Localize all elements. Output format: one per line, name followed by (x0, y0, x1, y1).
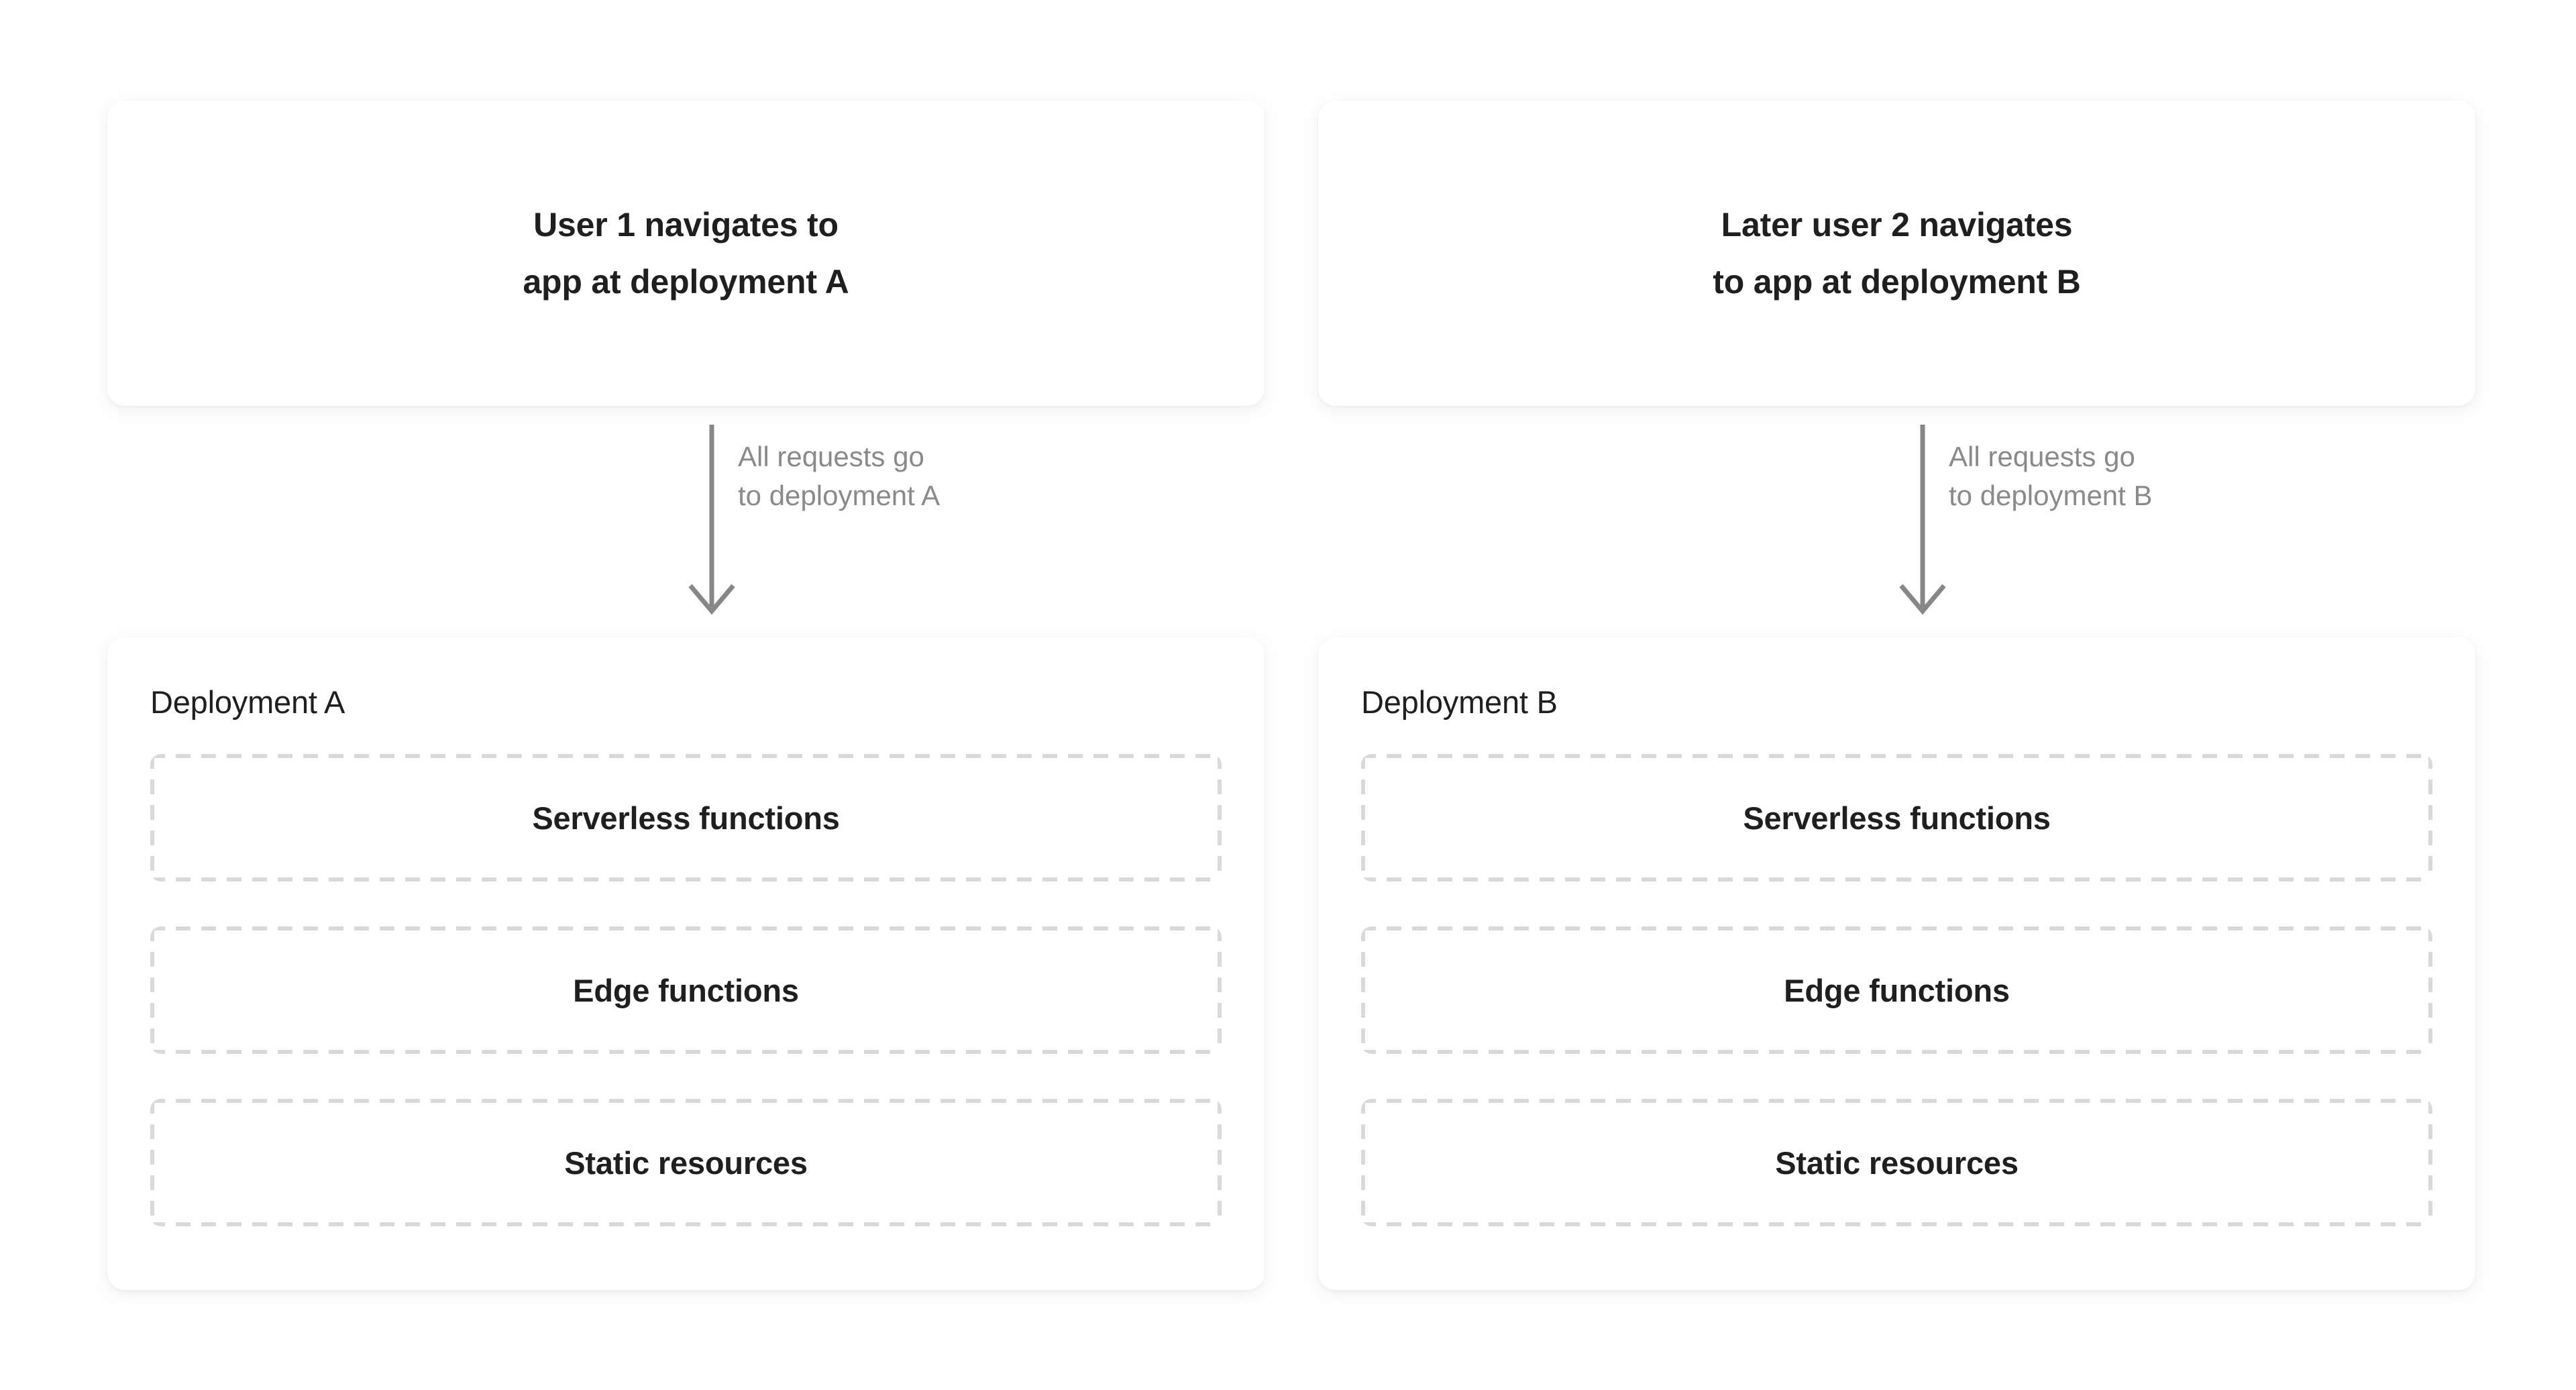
resource-label: Serverless functions (532, 800, 839, 837)
resource-list-b: Serverless functions Edge functions Stat… (1361, 754, 2432, 1226)
resource-label: Static resources (564, 1144, 808, 1181)
user-card-a-title: User 1 navigates to app at deployment A (523, 197, 849, 311)
arrow-down-icon (682, 425, 742, 616)
resource-label: Edge functions (1784, 972, 2010, 1009)
deployment-b-title: Deployment B (1361, 683, 2432, 722)
deployment-routing-diagram: User 1 navigates to app at deployment A … (0, 0, 2576, 1390)
resource-box-serverless-functions-b: Serverless functions (1361, 754, 2432, 881)
deployment-a-title: Deployment A (150, 683, 1222, 722)
column-deployment-a: User 1 navigates to app at deployment A … (107, 101, 1265, 1290)
deployment-card-b: Deployment B Serverless functions Edge f… (1318, 637, 2475, 1290)
user-card-b: Later user 2 navigates to app at deploym… (1318, 101, 2475, 406)
deployment-card-a: Deployment A Serverless functions Edge f… (107, 637, 1265, 1290)
user-card-b-title: Later user 2 navigates to app at deploym… (1713, 197, 2080, 311)
flow-a: All requests go to deployment A (107, 406, 1265, 637)
resource-list-a: Serverless functions Edge functions Stat… (150, 754, 1222, 1226)
resource-box-edge-functions-a: Edge functions (150, 926, 1222, 1054)
resource-box-serverless-functions-a: Serverless functions (150, 754, 1222, 881)
resource-label: Edge functions (573, 972, 799, 1009)
flow-b: All requests go to deployment B (1318, 406, 2475, 637)
flow-a-label: All requests go to deployment A (738, 437, 940, 515)
user-card-a: User 1 navigates to app at deployment A (107, 101, 1265, 406)
column-deployment-b: Later user 2 navigates to app at deploym… (1318, 101, 2475, 1290)
resource-box-static-resources-b: Static resources (1361, 1099, 2432, 1226)
flow-b-label: All requests go to deployment B (1949, 437, 2153, 515)
resource-label: Serverless functions (1743, 800, 2050, 837)
resource-label: Static resources (1775, 1144, 2019, 1181)
arrow-down-icon (1892, 425, 1953, 616)
resource-box-static-resources-a: Static resources (150, 1099, 1222, 1226)
resource-box-edge-functions-b: Edge functions (1361, 926, 2432, 1054)
